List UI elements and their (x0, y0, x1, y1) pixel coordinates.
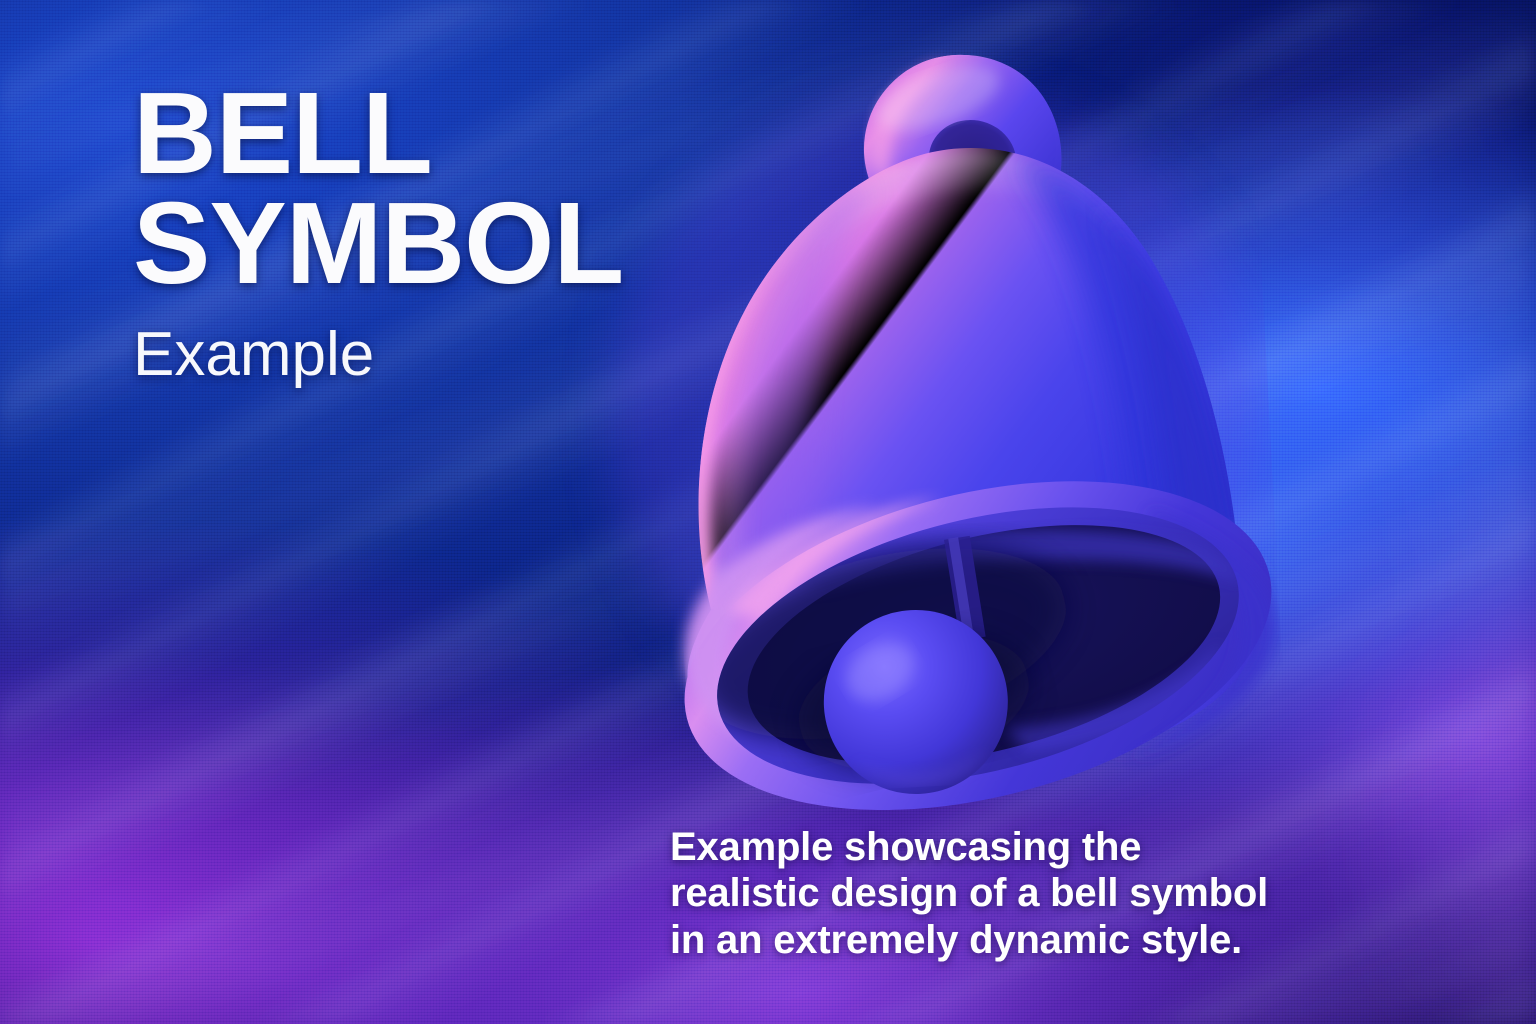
headline-line-2: SYMBOL (133, 188, 753, 298)
body-text-block: Example showcasing the realistic design … (670, 824, 1310, 963)
headline-block: BELL SYMBOL Example (133, 78, 753, 386)
headline-line-1: BELL (133, 78, 753, 188)
body-line-1: Example showcasing the (670, 824, 1310, 870)
body-line-2: realistic design of a bell symbol (670, 870, 1310, 916)
poster-canvas: BELL SYMBOL Example Example showcasing t… (0, 0, 1536, 1024)
subtitle: Example (133, 324, 753, 386)
body-line-3: in an extremely dynamic style. (670, 917, 1310, 963)
